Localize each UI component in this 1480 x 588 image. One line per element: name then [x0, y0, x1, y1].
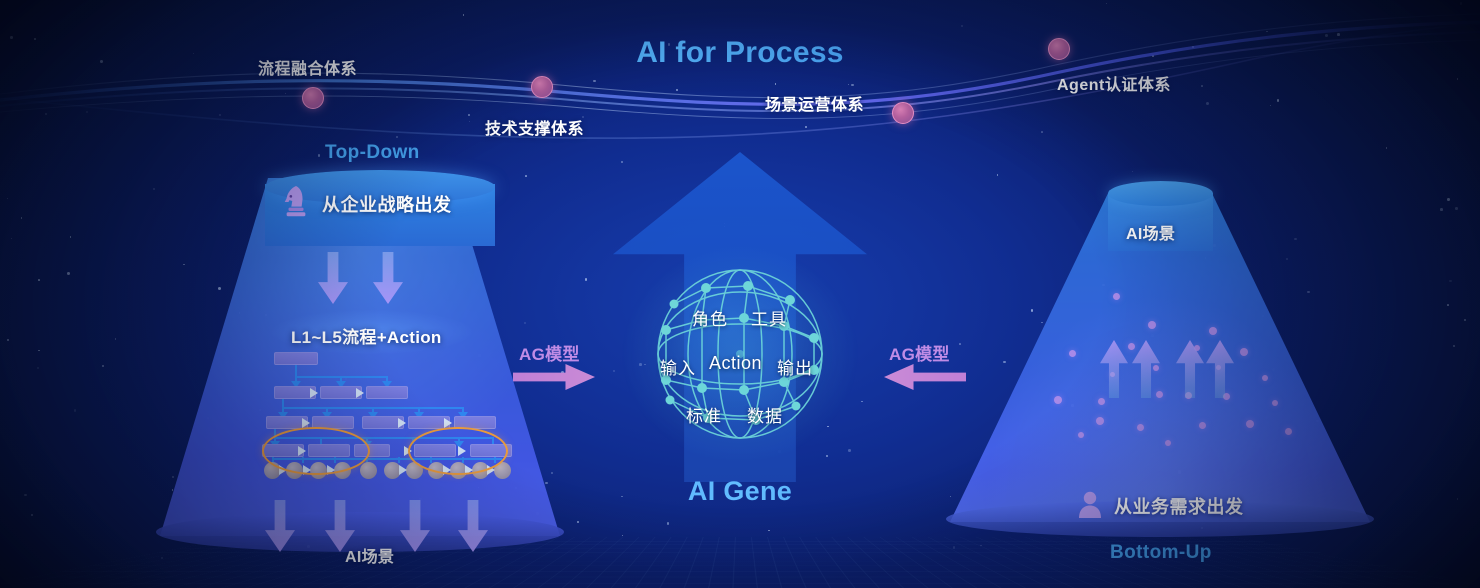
star-dot: [1132, 171, 1133, 172]
particle-dot: [1262, 375, 1268, 381]
chess-knight-icon: [281, 184, 311, 218]
star-dot: [1270, 105, 1271, 106]
particle-dot: [1285, 428, 1292, 435]
ag-model-label-left: AG模型: [519, 340, 580, 365]
star-dot: [961, 25, 963, 27]
ribbon-label-scenario-ops: 场景运营体系: [765, 91, 864, 115]
star-dot: [848, 449, 851, 452]
particle-dot: [1113, 293, 1120, 300]
particle-dot: [1209, 327, 1217, 335]
flow-arrow-head: [356, 388, 364, 398]
particle-dot: [1148, 321, 1156, 329]
infographic-canvas: 流程融合体系 技术支撑体系 场景运营体系 Agent认证体系 AI for Pr…: [0, 0, 1480, 588]
particle-dot: [1096, 417, 1104, 425]
star-dot: [7, 339, 10, 342]
star-dot: [318, 154, 320, 156]
ribbon-node-dot: [892, 102, 914, 124]
ribbon-label-agent-cert: Agent认证体系: [1057, 71, 1171, 95]
star-dot: [1386, 147, 1388, 149]
star-dot: [468, 114, 470, 116]
top-ribbon-wave: [0, 0, 1480, 160]
star-dot: [67, 272, 70, 275]
ag-model-label-right: AG模型: [889, 340, 950, 365]
particle-dot: [1098, 398, 1105, 405]
particle-dot: [1153, 365, 1159, 371]
star-dot: [585, 278, 587, 280]
gene-cell-output: 输出: [777, 354, 813, 379]
star-dot: [285, 93, 286, 94]
page-title: AI for Process: [0, 36, 1480, 70]
star-dot: [1106, 3, 1108, 5]
star-dot: [74, 409, 77, 412]
particle-dot: [1165, 440, 1171, 446]
particle-dot: [1137, 424, 1144, 431]
particle-dot: [1199, 422, 1206, 429]
star-dot: [1464, 319, 1466, 321]
star-dot: [38, 279, 40, 281]
star-dot: [153, 188, 155, 190]
left-funnel-bottom-label: AI场景: [345, 543, 394, 567]
flow-highlight-group-2: [408, 427, 508, 475]
right-funnel-bottom-label: 从业务需求出发: [1114, 493, 1244, 519]
ribbon-node-dot: [302, 87, 324, 109]
star-dot: [848, 84, 850, 86]
star-dot: [1277, 99, 1279, 101]
particle-dot: [1156, 391, 1163, 398]
caption-top-down: Top-Down: [325, 142, 420, 164]
right-funnel-rim: [1108, 181, 1213, 206]
flow-highlight-group-1: [262, 427, 370, 475]
star-dot: [219, 114, 221, 116]
gene-cell-role: 角色: [692, 305, 728, 330]
particle-dot: [1128, 343, 1135, 350]
star-dot: [861, 401, 862, 402]
star-dot: [21, 217, 22, 218]
star-dot: [396, 136, 398, 138]
ribbon-node-dot: [531, 76, 553, 98]
particle-dot: [1272, 400, 1278, 406]
star-dot: [525, 175, 527, 177]
star-dot: [997, 174, 999, 176]
gene-cell-data: 数据: [747, 402, 783, 427]
star-dot: [102, 365, 104, 367]
right-funnel-top-label: AI场景: [1126, 220, 1175, 244]
star-dot: [1201, 85, 1203, 87]
star-dot: [768, 530, 770, 532]
star-dot: [851, 84, 854, 87]
star-dot: [1455, 207, 1458, 210]
star-dot: [1041, 131, 1043, 133]
gene-cell-standard: 标准: [686, 402, 722, 427]
gene-cell-tool: 工具: [751, 305, 787, 330]
flow-bar: [366, 386, 408, 399]
star-dot: [161, 557, 163, 559]
flow-arrow-head: [310, 388, 318, 398]
particle-dot: [1069, 350, 1076, 357]
gene-cell-input: 输入: [660, 354, 696, 379]
star-dot: [1447, 198, 1450, 201]
particle-dot: [1078, 432, 1084, 438]
left-funnel-top-label: 从企业战略出发: [322, 191, 452, 217]
star-dot: [1447, 304, 1449, 306]
ribbon-label-tech-support: 技术支撑体系: [485, 115, 584, 139]
star-dot: [1266, 31, 1267, 32]
star-dot: [1206, 102, 1209, 105]
star-dot: [953, 546, 956, 549]
star-dot: [1457, 78, 1459, 80]
star-dot: [826, 455, 828, 457]
star-dot: [45, 113, 47, 115]
star-dot: [901, 110, 902, 111]
star-dot: [463, 14, 465, 16]
star-dot: [805, 126, 807, 128]
star-dot: [1453, 345, 1455, 347]
star-dot: [593, 80, 596, 83]
star-dot: [980, 545, 982, 547]
star-dot: [11, 238, 12, 239]
star-dot: [37, 367, 39, 369]
star-dot: [86, 111, 88, 113]
star-dot: [38, 350, 40, 352]
particle-dot: [1246, 420, 1254, 428]
star-dot: [1460, 2, 1463, 5]
star-dot: [622, 535, 624, 537]
particle-dot: [1054, 396, 1062, 404]
star-dot: [775, 83, 776, 84]
star-dot: [70, 236, 71, 237]
particle-dot: [1240, 348, 1248, 356]
star-dot: [676, 89, 678, 91]
flow-bar: [274, 352, 318, 365]
star-dot: [1449, 280, 1451, 282]
person-icon: [1077, 490, 1103, 518]
gene-cell-action: Action: [709, 353, 762, 374]
star-dot: [667, 522, 670, 525]
star-dot: [621, 161, 623, 163]
flow-arrow-head: [398, 418, 406, 428]
flow-arrow-head: [399, 465, 407, 475]
star-dot: [613, 370, 614, 371]
star-dot: [577, 521, 579, 523]
star-dot: [1440, 208, 1443, 211]
star-dot: [115, 338, 117, 340]
star-dot: [7, 198, 8, 199]
star-dot: [31, 514, 33, 516]
caption-bottom-up: Bottom-Up: [1110, 542, 1212, 564]
ribbon-svg: [0, 0, 1480, 160]
flow-connector: [398, 457, 400, 463]
left-funnel-mid-label: L1~L5流程+Action: [291, 323, 442, 348]
star-dot: [469, 121, 470, 122]
